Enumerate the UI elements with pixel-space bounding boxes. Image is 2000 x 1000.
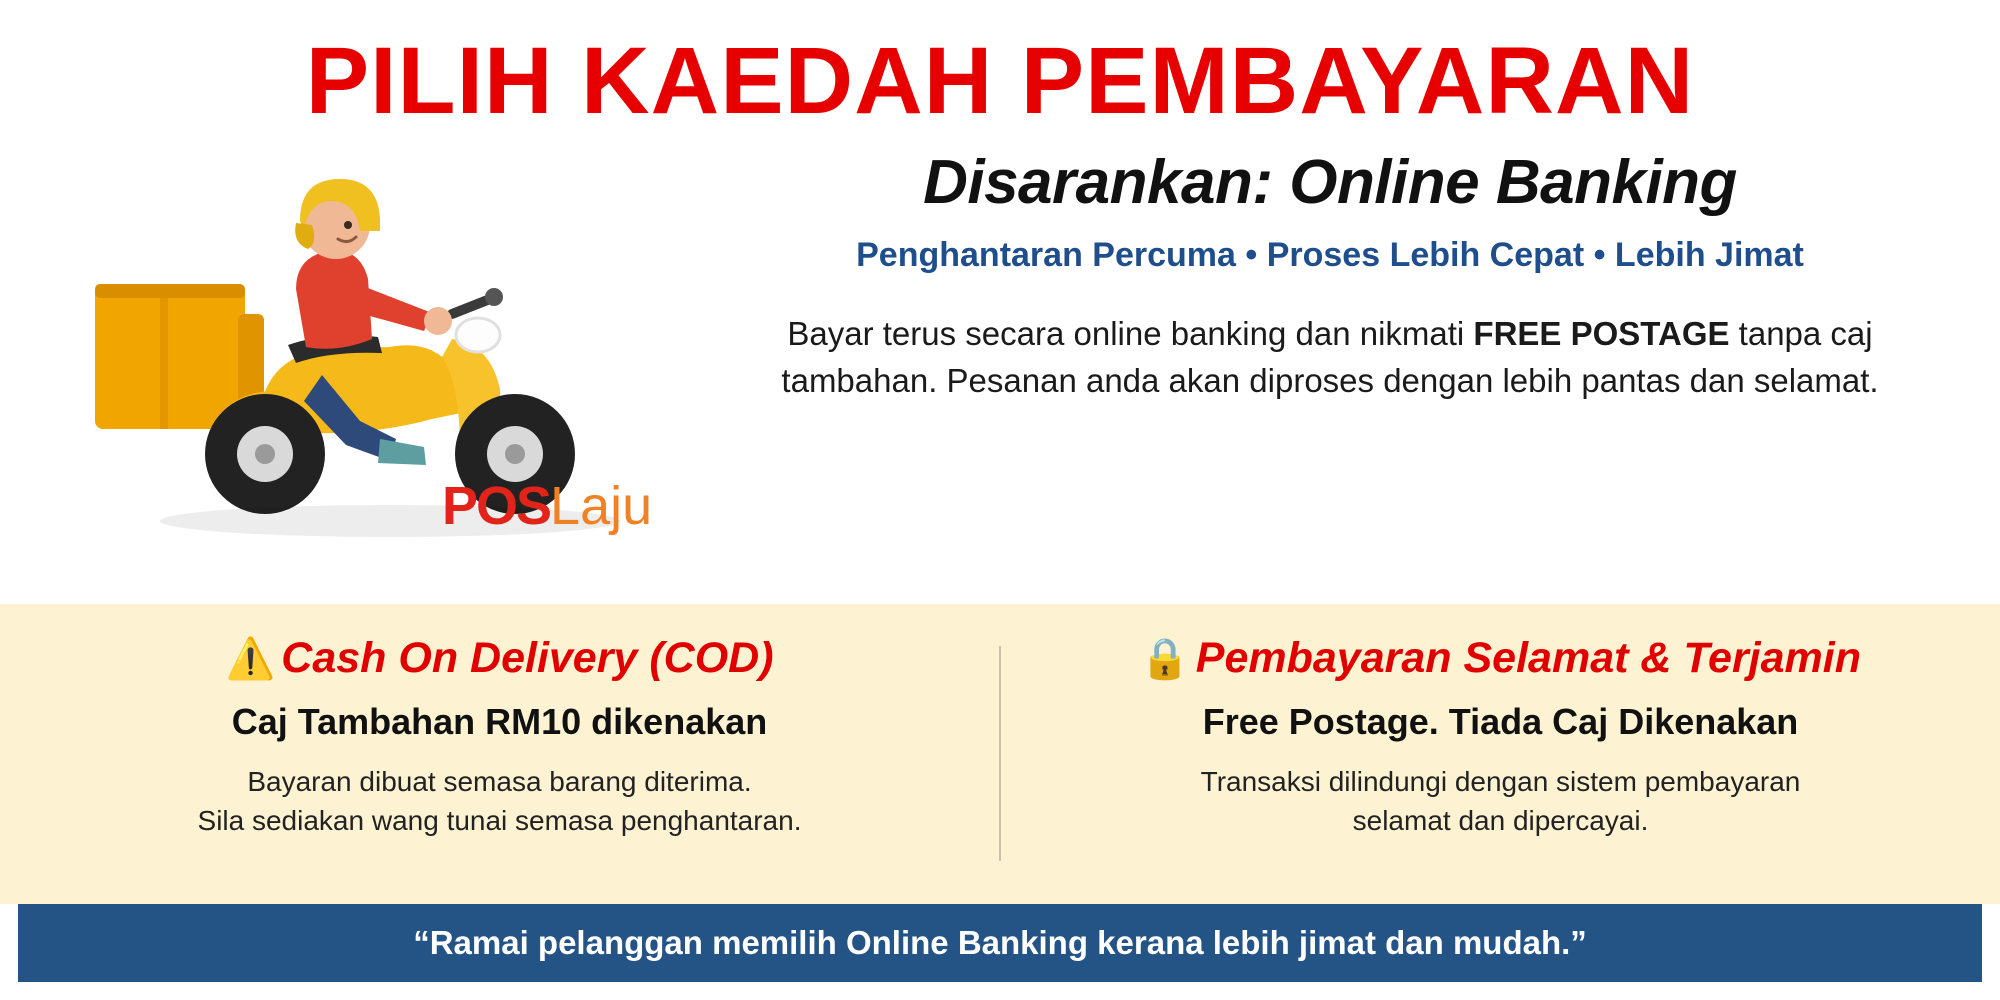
cod-heading: ⚠️Cash On Delivery (COD) [26,634,973,683]
hero-description-part1: Bayar terus secara online banking dan ni… [787,315,1473,352]
hero-text-block: Disarankan: Online Banking Penghantaran … [700,129,2000,604]
cod-line-2: Sila sediakan wang tunai semasa penghant… [26,802,973,841]
secure-subheading: Free Postage. Tiada Caj Dikenakan [1027,701,1974,743]
hero-description: Bayar terus secara online banking dan ni… [765,311,1895,405]
hero-section: POSLaju Disarankan: Online Banking Pengh… [0,129,2000,604]
warning-icon: ⚠️ [225,637,275,681]
title-row: PILIH KAEDAH PEMBAYARAN [0,0,2000,129]
secure-line-2: selamat dan dipercayai. [1027,802,1974,841]
secure-heading-text: Pembayaran Selamat & Terjamin [1196,634,1861,682]
hero-description-highlight: FREE POSTAGE [1473,315,1729,352]
payment-method-banner: PILIH KAEDAH PEMBAYARAN [0,0,2000,1000]
benefits-line: Penghantaran Percuma • Proses Lebih Cepa… [700,236,1960,275]
lock-icon: 🔒 [1140,637,1190,681]
poslaju-logo-primary: POS [442,476,550,536]
poslaju-logo-secondary: Laju [550,476,652,536]
page-title: PILIH KAEDAH PEMBAYARAN [0,34,2000,129]
footer-bar: “Ramai pelanggan memilih Online Banking … [18,904,1982,982]
secure-payment-column: 🔒Pembayaran Selamat & Terjamin Free Post… [1001,634,2000,840]
courier-illustration: POSLaju [60,139,700,559]
secure-heading: 🔒Pembayaran Selamat & Terjamin [1027,634,1974,683]
cod-column: ⚠️Cash On Delivery (COD) Caj Tambahan RM… [0,634,999,840]
cod-line-1: Bayaran dibuat semasa barang diterima. [26,763,973,802]
recommended-method: Disarankan: Online Banking [700,147,1960,218]
cod-subheading: Caj Tambahan RM10 dikenakan [26,701,973,743]
footer-quote: “Ramai pelanggan memilih Online Banking … [413,924,1587,962]
secure-line-1: Transaksi dilindungi dengan sistem pemba… [1027,763,1974,802]
info-panel: ⚠️Cash On Delivery (COD) Caj Tambahan RM… [0,604,2000,904]
cod-heading-text: Cash On Delivery (COD) [281,634,773,682]
poslaju-logo: POSLaju [442,479,652,533]
